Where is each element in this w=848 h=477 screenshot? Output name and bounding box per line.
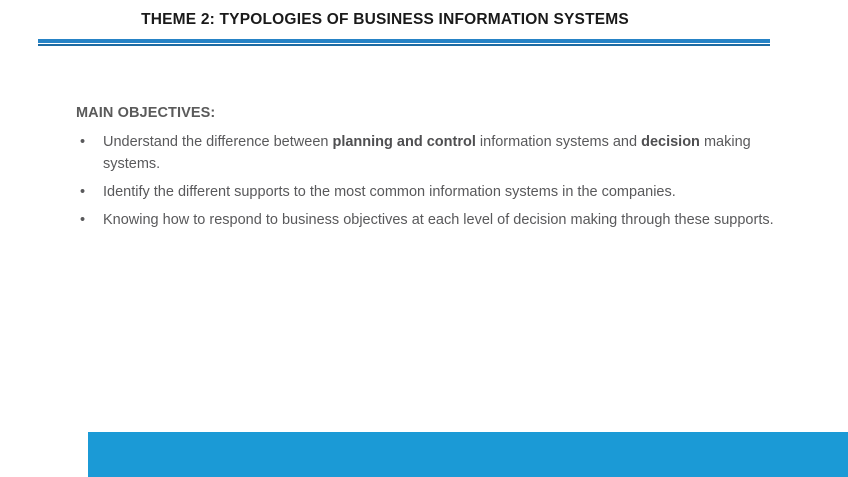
title-divider-bottom xyxy=(38,44,770,46)
objective-item: •Knowing how to respond to business obje… xyxy=(76,209,776,231)
objective-span: Knowing how to respond to business objec… xyxy=(103,212,774,228)
objective-text: Understand the difference between planni… xyxy=(103,134,751,172)
slide-title: THEME 2: TYPOLOGIES OF BUSINESS INFORMAT… xyxy=(0,11,770,29)
objective-emphasis: decision xyxy=(641,134,700,150)
objective-text: Identify the different supports to the m… xyxy=(103,184,676,200)
objective-item: •Identify the different supports to the … xyxy=(76,181,776,203)
objectives-list: •Understand the difference between plann… xyxy=(76,131,776,231)
bullet-icon: • xyxy=(80,131,85,153)
objective-span: information systems and xyxy=(476,134,641,150)
objective-emphasis: planning and control xyxy=(332,134,475,150)
title-divider-top xyxy=(38,39,770,43)
bullet-icon: • xyxy=(80,181,85,203)
bullet-icon: • xyxy=(80,209,85,231)
objective-span: Understand the difference between xyxy=(103,134,332,150)
footer-accent-bar xyxy=(88,432,848,477)
objective-item: •Understand the difference between plann… xyxy=(76,131,776,175)
objective-span: Identify the different supports to the m… xyxy=(103,184,676,200)
slide-title-bar: THEME 2: TYPOLOGIES OF BUSINESS INFORMAT… xyxy=(0,0,770,46)
slide-body: MAIN OBJECTIVES: •Understand the differe… xyxy=(76,105,776,237)
objective-text: Knowing how to respond to business objec… xyxy=(103,212,774,228)
objectives-heading: MAIN OBJECTIVES: xyxy=(76,105,776,121)
slide: THEME 2: TYPOLOGIES OF BUSINESS INFORMAT… xyxy=(0,0,848,477)
